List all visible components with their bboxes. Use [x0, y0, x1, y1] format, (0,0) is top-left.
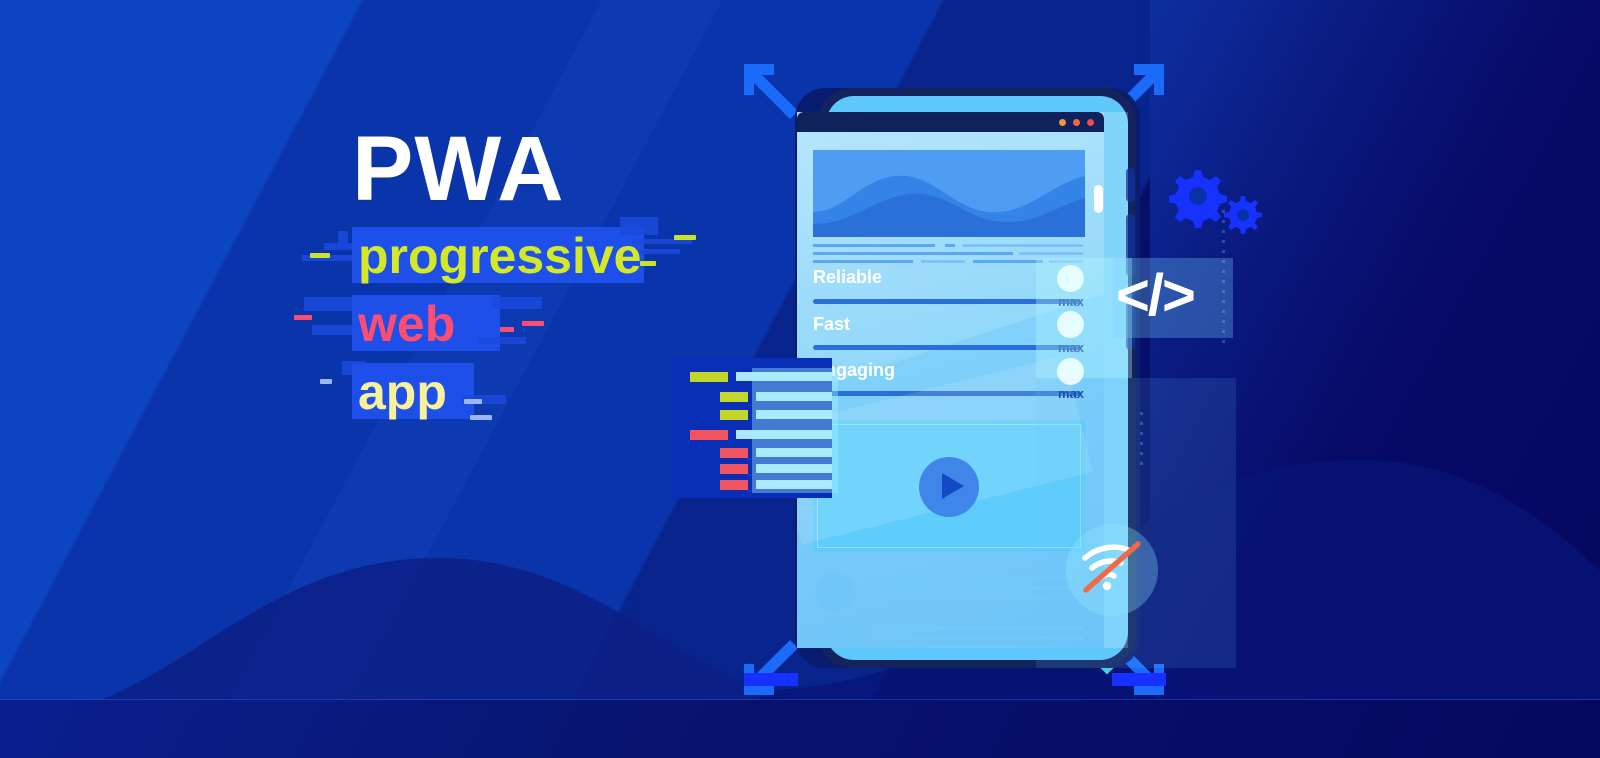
- gears-group: [1164, 170, 1264, 253]
- metric-label-reliable: Reliable: [813, 267, 882, 288]
- ground-band: [0, 700, 1600, 758]
- dash-app-left: [320, 379, 332, 384]
- hero-image: [813, 150, 1085, 237]
- illustration-canvas: PWA progressive web: [0, 0, 1600, 758]
- glass-panel-right: [1036, 378, 1236, 668]
- expand-arrow-bottom-left-icon: [738, 640, 800, 702]
- gear-icon: [1169, 170, 1227, 228]
- dash-progressive-left: [310, 253, 330, 258]
- headline-word-label-2: web: [352, 293, 772, 355]
- headline-word-progressive: progressive: [352, 225, 772, 287]
- code-symbol-icon: </>: [1116, 262, 1226, 329]
- gear-small-icon: [1224, 196, 1262, 234]
- expand-bar-bottom-left: [744, 673, 798, 686]
- dot-orange-icon[interactable]: [1059, 119, 1066, 126]
- dot-amber-icon[interactable]: [1073, 119, 1080, 126]
- metric-label-fast: Fast: [813, 314, 850, 335]
- code-panel-glass-overlay: [752, 368, 838, 493]
- expand-arrow-top-left-icon: [738, 58, 800, 120]
- dot-red-icon[interactable]: [1087, 119, 1094, 126]
- expand-bar-bottom-right: [1112, 673, 1166, 686]
- avatar: [815, 622, 855, 648]
- play-icon: [942, 473, 964, 499]
- wifi-off-icon: [1080, 540, 1146, 599]
- scroll-indicator[interactable]: [1094, 185, 1103, 213]
- headline-word-label-1: progressive: [352, 225, 772, 287]
- dash-web-left: [294, 315, 312, 320]
- browser-title-bar: [797, 112, 1104, 132]
- page-title: PWA: [352, 126, 772, 213]
- headline-word-web: web: [352, 293, 772, 355]
- avatar: [815, 572, 855, 612]
